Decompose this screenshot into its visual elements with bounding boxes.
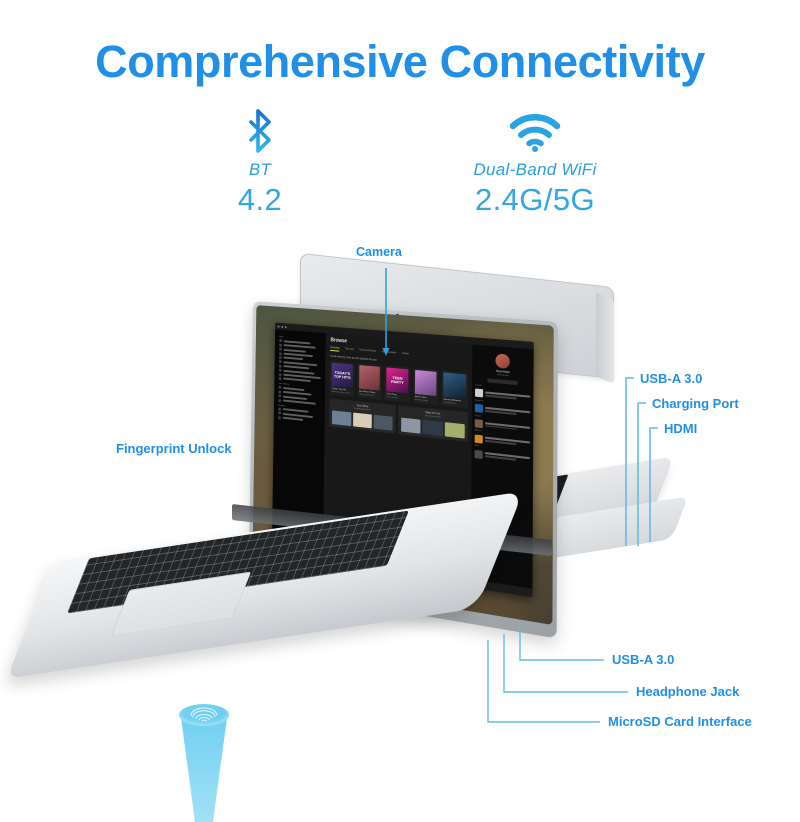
item-thumbnail — [475, 404, 483, 413]
follow-button[interactable] — [487, 378, 518, 385]
bluetooth-sub-label: BT — [195, 160, 325, 180]
sidebar-item-icon — [278, 408, 281, 411]
pane-thumb[interactable] — [332, 410, 351, 426]
back-laptop-lid-edge — [596, 292, 614, 383]
item-thumbnail — [475, 389, 483, 398]
window-control-dot[interactable] — [285, 326, 287, 328]
playlist-card[interactable]: TEEN PARTY Teen Party Turn it up loud — [385, 365, 411, 402]
sidebar-item-icon — [279, 356, 282, 359]
sidebar-item-icon — [279, 364, 282, 367]
callout-camera: Camera — [356, 245, 402, 259]
sidebar-item-icon — [279, 373, 282, 376]
fingerprint-icon — [187, 706, 221, 724]
bluetooth-version: 4.2 — [195, 182, 325, 218]
sidebar-item-icon — [278, 390, 281, 393]
item-thumbnail — [475, 419, 483, 428]
playlist-artwork — [444, 373, 467, 399]
playlist-card[interactable]: Beach Vibes Sunshine playlist — [413, 368, 439, 406]
bluetooth-icon — [195, 108, 325, 154]
item-thumbnail — [475, 434, 483, 443]
pane-thumb[interactable] — [353, 413, 372, 429]
callout-fingerprint-unlock: Fingerprint Unlock — [116, 441, 232, 456]
pane-thumb[interactable] — [423, 420, 443, 436]
sidebar-item-icon — [279, 352, 282, 355]
sidebar-item-icon — [278, 416, 281, 419]
playlist-artwork — [359, 365, 380, 391]
feature-wifi: Dual-Band WiFi 2.4G/5G — [440, 108, 630, 218]
pane-thumb[interactable] — [401, 418, 421, 434]
callout-usb-a-30-front: USB-A 3.0 — [612, 652, 674, 667]
infographic-canvas: Comprehensive Connectivity BT 4.2 — [0, 0, 800, 800]
item-thumbnail — [475, 449, 483, 458]
page-title: Comprehensive Connectivity — [0, 36, 800, 88]
window-control-dot[interactable] — [281, 325, 283, 327]
laptop-scene: Main Your Library — [0, 230, 800, 750]
tab-charts[interactable]: Charts — [402, 352, 409, 358]
tab-genres-moods[interactable]: Genres & Moods — [359, 348, 376, 354]
pane-thumb[interactable] — [374, 415, 393, 431]
sidebar-item-icon — [279, 348, 282, 351]
sidebar-item-icon — [279, 339, 282, 342]
playlist-artwork: TODAY'S TOP HITS — [332, 363, 353, 388]
callout-usb-a-30-back: USB-A 3.0 — [640, 371, 702, 386]
sidebar-item-icon — [279, 360, 282, 363]
sidebar-item-icon — [278, 399, 281, 402]
pane-thumb[interactable] — [445, 422, 465, 438]
tab-top-lists[interactable]: Top Lists — [345, 347, 354, 353]
sidebar-item-label — [283, 378, 310, 383]
wifi-bands: 2.4G/5G — [440, 182, 630, 218]
playlist-card[interactable]: TODAY'S TOP HITS Today's Top Hits Ariana… — [330, 361, 355, 397]
sidebar-item-icon — [279, 377, 282, 380]
feature-pane[interactable]: Your Library Recently played albums — [329, 398, 395, 434]
sidebar-item-icon — [278, 386, 281, 389]
wifi-icon — [440, 108, 630, 154]
playlist-artwork — [415, 370, 437, 396]
fingerprint-beam-cone — [176, 714, 232, 822]
sidebar-item-icon — [279, 369, 282, 372]
tab-new-releases[interactable]: New Releases — [382, 350, 397, 356]
avatar — [496, 353, 510, 369]
sidebar-item-icon — [279, 344, 282, 347]
sidebar-item-label — [282, 417, 302, 421]
sidebar-item-icon — [278, 412, 281, 415]
fingerprint-beam — [176, 702, 232, 822]
callout-microsd-card-interface: MicroSD Card Interface — [608, 714, 752, 729]
playlist-artwork: TEEN PARTY — [387, 368, 409, 394]
feature-pane[interactable]: Made For You Daily mixes and more — [398, 405, 468, 442]
wifi-sub-label: Dual-Band WiFi — [440, 160, 630, 180]
playlist-card[interactable]: New Music Friday The best new tracks — [357, 363, 382, 400]
playlist-card[interactable]: Weekend Rewind Throwback hits — [442, 370, 469, 408]
callout-hdmi: HDMI — [664, 421, 697, 436]
tab-overview[interactable]: Overview — [330, 346, 339, 352]
callout-charging-port: Charging Port — [652, 396, 739, 411]
window-control-dot[interactable] — [278, 325, 280, 327]
sidebar-item-icon — [278, 394, 281, 397]
feature-bluetooth: BT 4.2 — [195, 108, 325, 218]
callout-headphone-jack: Headphone Jack — [636, 684, 739, 699]
